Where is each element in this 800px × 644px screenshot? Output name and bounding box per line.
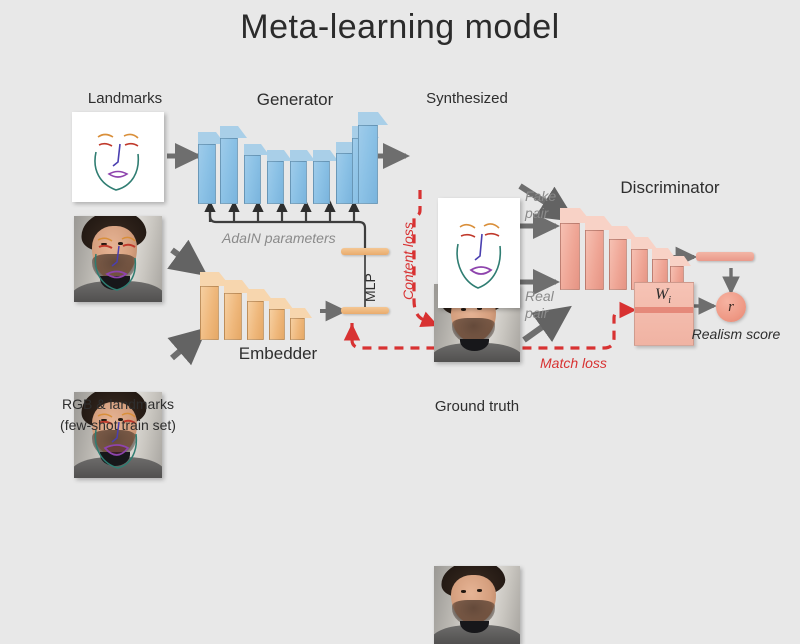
- embedder-block: [224, 280, 242, 340]
- target-landmarks-image: [438, 198, 520, 308]
- realism-score-circle: r: [716, 292, 746, 322]
- w-matrix-symbol: W: [655, 286, 668, 303]
- embedder-block: [269, 298, 285, 340]
- discriminator-block: [609, 226, 627, 290]
- generator-block: [244, 144, 261, 204]
- generator-block: [313, 150, 330, 204]
- landmark-strokes: [72, 112, 164, 202]
- discriminator-block: [585, 216, 604, 290]
- realism-score-symbol: r: [728, 299, 734, 316]
- discriminator-network: [560, 202, 680, 290]
- generator-block: [267, 150, 284, 204]
- fake-pair-label-line2: pair: [525, 205, 548, 221]
- realism-score-text: Realism score: [692, 326, 781, 342]
- embedder-block: [290, 308, 305, 340]
- content-loss-path: [414, 190, 436, 325]
- w-matrix-subscript: i: [668, 295, 671, 306]
- discriminator-embedding-bar: [696, 252, 754, 261]
- mlp-output-bar: [341, 248, 389, 255]
- target-landmark-strokes: [438, 198, 520, 308]
- source-image-1: [74, 216, 162, 302]
- real-pair-label-line1: Real: [525, 288, 554, 304]
- embedder-block: [247, 289, 264, 340]
- generator-block: [290, 150, 307, 204]
- w-matrix-selected-row: [635, 307, 693, 313]
- embedder-label: Embedder: [218, 344, 338, 364]
- generator-block: [336, 142, 353, 204]
- embedder-network: [200, 262, 325, 340]
- embedder-block: [200, 272, 219, 340]
- mlp-input-bar: [341, 307, 389, 314]
- generator-block: [220, 126, 238, 204]
- ground-truth-label: Ground truth: [412, 398, 542, 415]
- w-matrix-label: Wi: [634, 286, 692, 306]
- realism-score-label: Realism score: [676, 326, 796, 342]
- mlp-label: MLP: [362, 273, 378, 302]
- landmarks-image: [72, 112, 164, 202]
- real-pair-label-line2: pair: [525, 305, 548, 321]
- match-loss-label: Match loss: [540, 355, 607, 371]
- fake-pair-label-line1: Fake: [525, 188, 556, 204]
- rgb-landmarks-label-line1: RGB & landmarks: [18, 396, 218, 412]
- generator-block: [198, 132, 216, 204]
- adain-parameters-label: AdaIN parameters: [222, 230, 336, 246]
- discriminator-label: Discriminator: [595, 178, 745, 198]
- rgb-landmarks-label-line2: (few-shot train set): [18, 417, 218, 433]
- generator-block: [358, 112, 378, 204]
- landmarks-label: Landmarks: [70, 90, 180, 107]
- arrow-source2-to-embedder: [172, 332, 202, 358]
- generator-network: [198, 104, 383, 204]
- diagram-canvas: Meta-learning model: [0, 0, 800, 450]
- synthesized-label: Synthesized: [412, 90, 522, 107]
- landmark-overlay-1: [74, 216, 162, 302]
- content-loss-label: Content loss: [400, 222, 416, 300]
- ground-truth-image: [434, 566, 520, 644]
- arrow-source1-to-embedder: [172, 250, 202, 272]
- discriminator-block: [560, 208, 580, 290]
